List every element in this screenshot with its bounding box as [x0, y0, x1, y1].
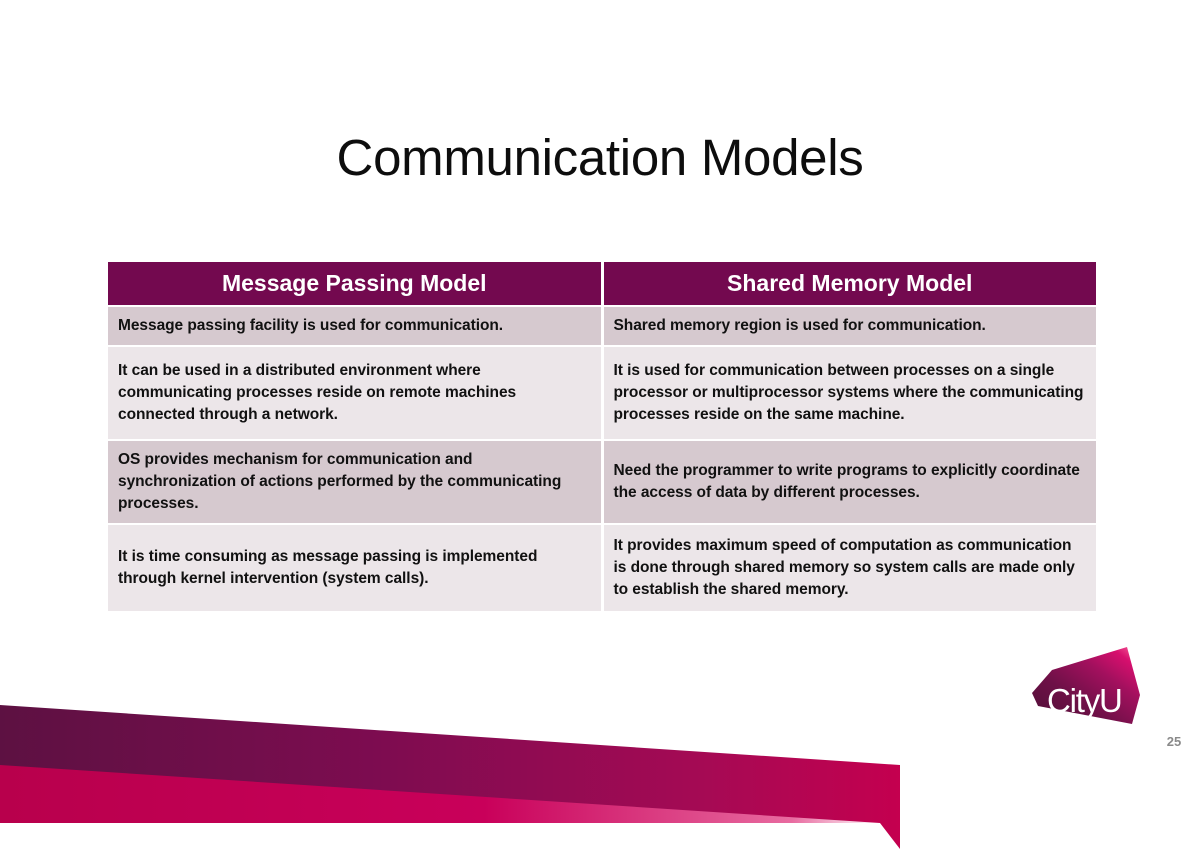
cell-text: It is time consuming as message passing …	[118, 546, 591, 590]
footer-decoration	[0, 655, 1200, 849]
column-header-label: Shared Memory Model	[614, 268, 1087, 298]
table-cell-right: It provides maximum speed of computation…	[604, 525, 1097, 611]
table-cell-left: It is time consuming as message passing …	[108, 525, 601, 611]
cell-text: Shared memory region is used for communi…	[614, 315, 1087, 337]
wedge-secondary	[0, 765, 880, 823]
table-cell-left: OS provides mechanism for communication …	[108, 441, 601, 523]
footer-wedge-graphic	[0, 655, 1200, 849]
wedge-primary	[0, 705, 900, 849]
page-number: 25	[1158, 734, 1190, 749]
table-row: It is time consuming as message passing …	[108, 525, 1096, 611]
cell-text: Need the programmer to write programs to…	[614, 460, 1087, 504]
cell-text: Message passing facility is used for com…	[118, 315, 591, 337]
table-cell-left: It can be used in a distributed environm…	[108, 347, 601, 439]
table-cell-right: It is used for communication between pro…	[604, 347, 1097, 439]
table-cell-right: Shared memory region is used for communi…	[604, 307, 1097, 345]
column-header-label: Message Passing Model	[118, 268, 591, 298]
wedge-mask-lower	[0, 823, 900, 849]
comparison-table: Message Passing Model Shared Memory Mode…	[108, 262, 1096, 611]
table-cell-right: Need the programmer to write programs to…	[604, 441, 1097, 523]
cell-text: It provides maximum speed of computation…	[614, 535, 1087, 601]
page-title: Communication Models	[0, 128, 1200, 188]
cell-text: It is used for communication between pro…	[614, 360, 1087, 426]
table-row: OS provides mechanism for communication …	[108, 441, 1096, 523]
table-cell-left: Message passing facility is used for com…	[108, 307, 601, 345]
table-row: Message passing facility is used for com…	[108, 307, 1096, 345]
column-header-message-passing: Message Passing Model	[108, 262, 601, 305]
table-header-row: Message Passing Model Shared Memory Mode…	[108, 262, 1096, 305]
cell-text: OS provides mechanism for communication …	[118, 449, 591, 515]
column-header-shared-memory: Shared Memory Model	[604, 262, 1097, 305]
logo-wordmark: CityU	[1047, 684, 1122, 717]
table-row: It can be used in a distributed environm…	[108, 347, 1096, 439]
wedge-mask	[900, 765, 1200, 849]
presentation-slide: Communication Models Message Passing Mod…	[0, 0, 1200, 849]
cell-text: It can be used in a distributed environm…	[118, 360, 591, 426]
